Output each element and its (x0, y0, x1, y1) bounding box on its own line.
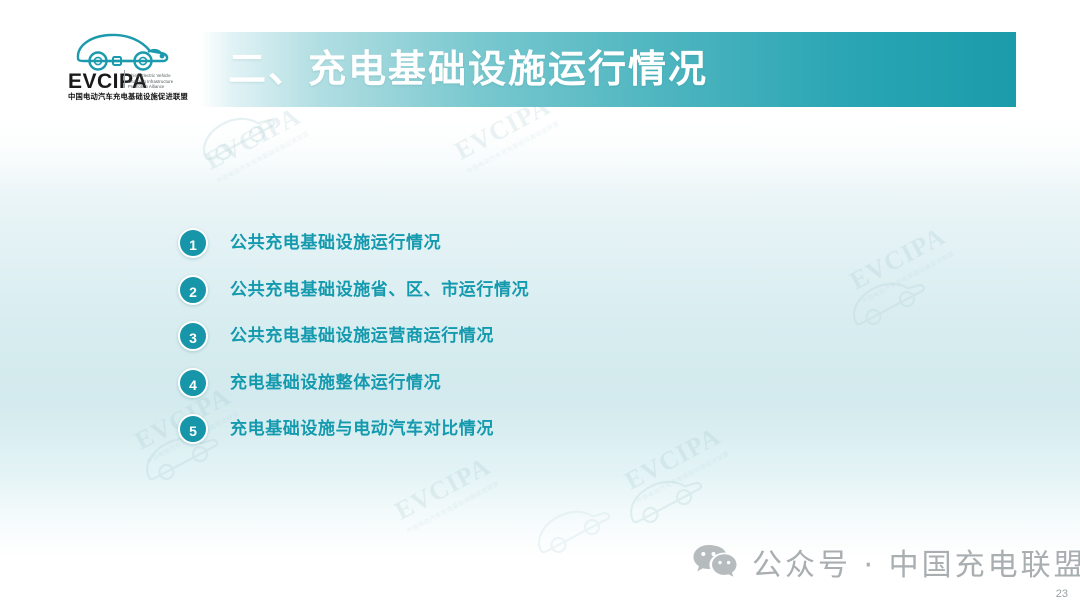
agenda-number-badge: 3 (178, 321, 208, 351)
page-title: 二、充电基础设施运行情况 (228, 41, 708, 97)
slide-root: EVCIPA 中国电动汽车充电基础设施促进联盟 EVCIPA 中国电动汽车充电基… (0, 0, 1080, 608)
wechat-account-label: 公众号 · 中国充电联盟 (752, 540, 1080, 584)
agenda-item-4[interactable]: 4 充电基础设施整体运行情况 (178, 368, 878, 415)
logo-english-subtitle: China Electric Vehicle Charging Infrastr… (128, 73, 186, 90)
agenda-number-badge: 1 (178, 228, 208, 258)
agenda-item-label: 充电基础设施整体运行情况 (230, 370, 441, 396)
agenda-item-5[interactable]: 5 充电基础设施与电动汽车对比情况 (178, 414, 878, 461)
logo-divider (124, 70, 125, 88)
ev-car-charging-icon (72, 30, 174, 72)
agenda-item-label: 公共充电基础设施运行情况 (230, 230, 441, 256)
wechat-icon (692, 543, 738, 581)
logo-english-line-3: Promotion Alliance (128, 84, 186, 90)
agenda-number-badge: 2 (178, 275, 208, 305)
agenda-item-2[interactable]: 2 公共充电基础设施省、区、市运行情况 (178, 275, 878, 322)
background-top-glow (0, 100, 1080, 190)
agenda-number-badge: 5 (178, 414, 208, 444)
page-number: 23 (1056, 588, 1068, 600)
evcipa-logo: EVCIPA China Electric Vehicle Charging I… (64, 30, 188, 110)
logo-chinese-subtitle: 中国电动汽车充电基础设施促进联盟 (68, 92, 188, 102)
agenda-item-label: 充电基础设施与电动汽车对比情况 (230, 416, 494, 442)
agenda-item-3[interactable]: 3 公共充电基础设施运营商运行情况 (178, 321, 878, 368)
agenda-number-badge: 4 (178, 368, 208, 398)
agenda-item-label: 公共充电基础设施运营商运行情况 (230, 323, 494, 349)
agenda-item-label: 公共充电基础设施省、区、市运行情况 (230, 277, 529, 303)
agenda-list: 1 公共充电基础设施运行情况 2 公共充电基础设施省、区、市运行情况 3 公共充… (178, 228, 878, 461)
agenda-item-1[interactable]: 1 公共充电基础设施运行情况 (178, 228, 878, 275)
wechat-footer: 公众号 · 中国充电联盟 (692, 540, 1080, 584)
